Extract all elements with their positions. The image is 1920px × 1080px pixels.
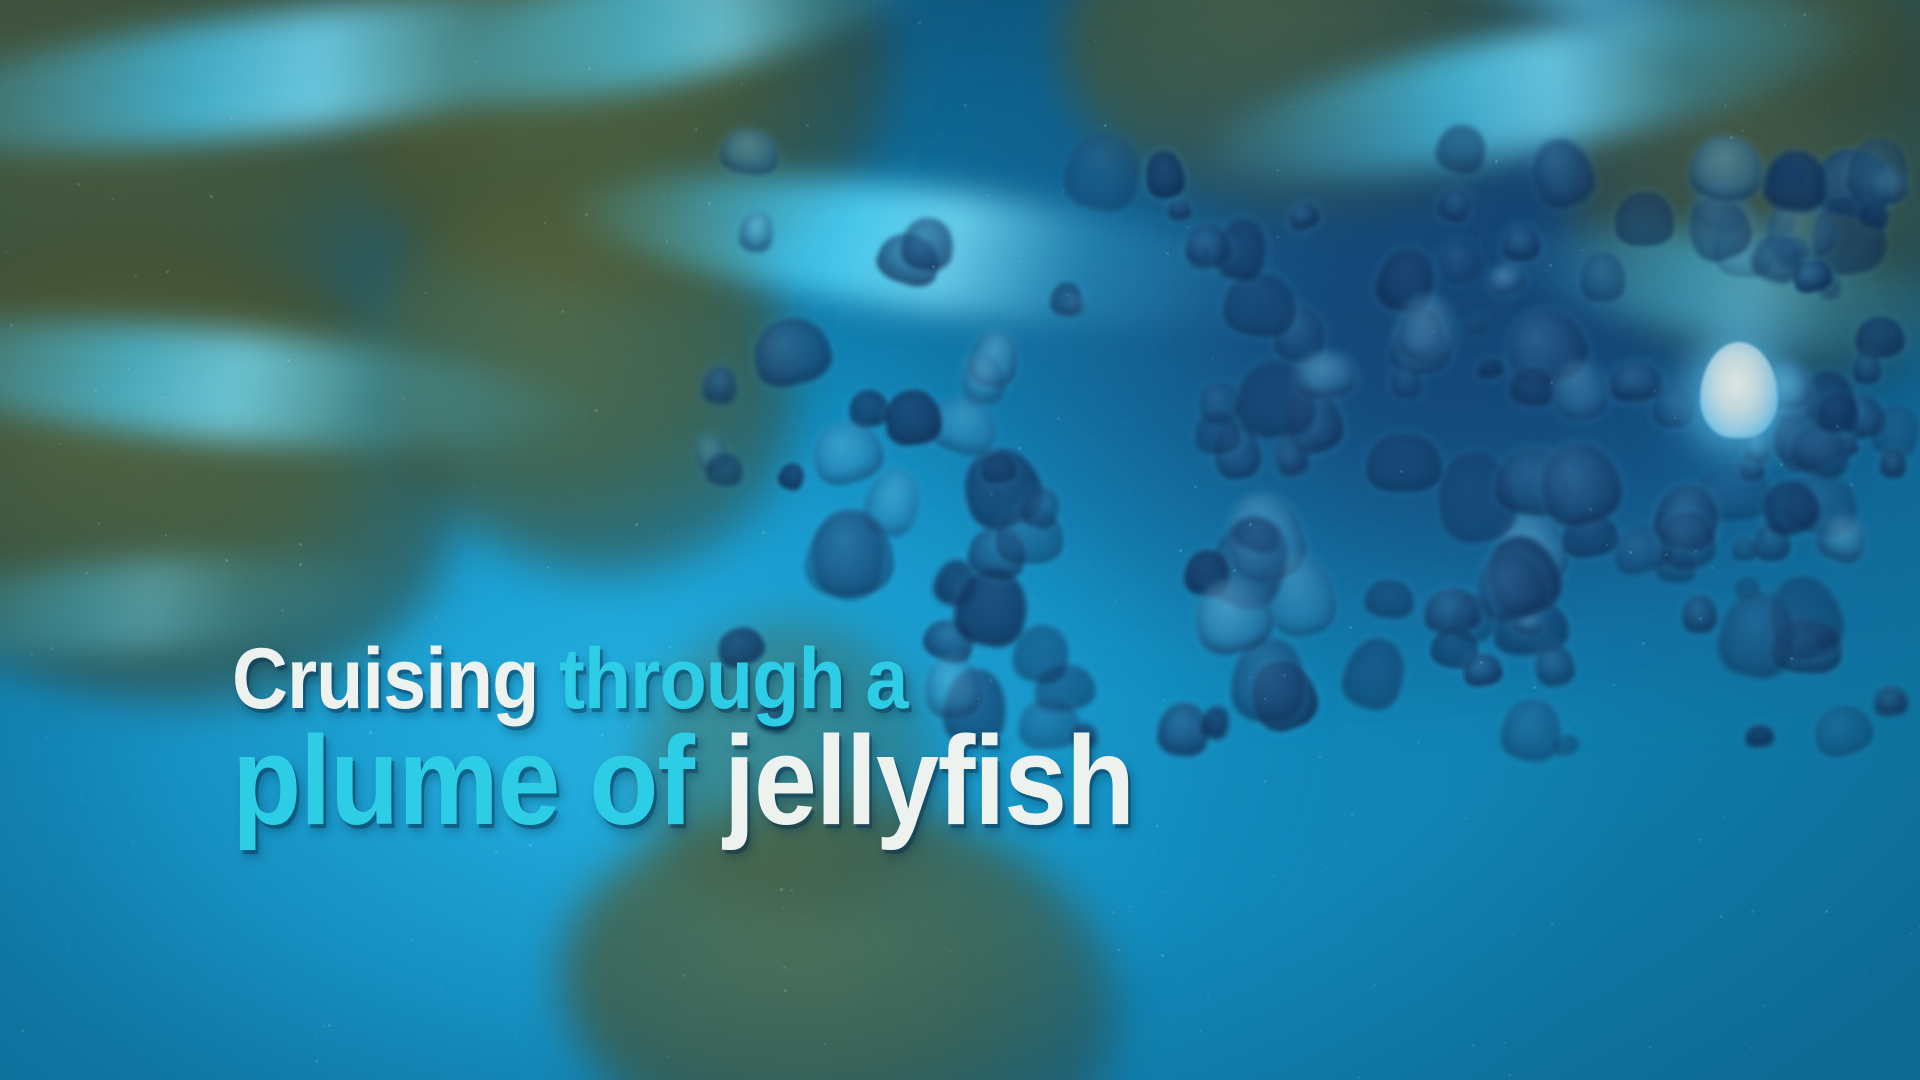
particle [153,935,156,938]
particle [1129,490,1131,492]
particle [1728,926,1730,928]
particle [410,938,413,941]
particle [1654,390,1656,392]
jellyfish-bell [1785,415,1858,484]
particle [409,26,411,28]
particle [166,270,169,273]
jellyfish-bell [1434,234,1486,288]
particle [250,10,252,12]
jellyfish-bell [1275,380,1349,460]
particle [784,989,787,992]
jellyfish-bell [1816,272,1844,302]
particle [595,409,598,412]
water-upper-shadow [0,0,1920,400]
jellyfish-bell [798,503,894,606]
jellyfish-bell [1292,350,1358,401]
jellyfish-bell [1732,538,1758,561]
particle [1581,249,1583,251]
particle [1780,463,1783,466]
jellyfish-bell [958,351,1007,408]
particle [918,21,921,24]
jellyfish-bell [1391,363,1422,400]
jellyfish-bell [1237,361,1316,437]
jellyfish-bell [746,311,837,393]
particle [1633,5,1636,8]
particle [1118,949,1120,951]
vignette-overlay [0,0,1920,1080]
particle [1674,417,1676,419]
particle [1200,1030,1202,1032]
jellyfish-bell [1711,203,1779,279]
particle [474,60,477,63]
particle [1166,252,1169,255]
jellyfish-bell [1657,509,1719,573]
particle [1018,447,1021,450]
particle [1371,987,1373,989]
particle [1551,923,1553,925]
particle [21,1029,24,1032]
particle [50,647,53,650]
particle [667,531,669,533]
particle [1916,145,1917,146]
jellyfish-bell [1679,187,1758,268]
jellyfish-bell [1532,435,1629,533]
particle [666,1055,669,1058]
particle [827,436,828,437]
caption-overlay: Cruising through a plume of jellyfish [232,640,1712,839]
particle [1223,100,1225,102]
particle [45,736,48,739]
particle [281,609,284,612]
particle [990,493,993,496]
video-frame: Cruising through a plume of jellyfish [0,0,1920,1080]
particle [112,198,114,200]
jellyfish-bell [1193,410,1241,455]
jellyfish-bell [979,452,1017,486]
particle [6,710,7,711]
particle [1154,118,1155,119]
particle [708,202,711,205]
jellyfish-bell [882,387,944,448]
particle [695,128,698,131]
particle [1273,874,1276,877]
particle [1131,508,1132,509]
particle [964,104,967,107]
particle [299,543,302,546]
rim-light-6 [1495,203,1920,377]
particle [731,908,732,909]
particle [1293,276,1294,277]
jellyfish-bell [857,463,928,542]
particle [588,67,591,70]
particle [1750,1047,1752,1049]
particle [1724,523,1726,525]
jellyfish-bell [1806,192,1891,281]
jellyfish-bell [899,215,955,272]
jellyfish-bell [1830,433,1861,460]
jellyfish-bell [1365,433,1441,492]
particle [865,294,866,295]
jellyfish-bell [923,389,1005,462]
particle [1357,1076,1360,1079]
particle [531,883,532,884]
jellyfish-bell [1016,482,1063,532]
jellyfish-bell [1508,366,1556,407]
particle [1558,229,1559,230]
particle [1433,331,1435,333]
particle [134,275,137,278]
kelp-shape-1 [0,0,526,452]
jellyfish-bell [1760,568,1852,667]
particle [1720,915,1723,918]
particle [1448,553,1449,554]
jellyfish-bell [1808,698,1878,762]
particle [126,60,128,62]
jellyfish-bell [1184,238,1213,262]
particle [1910,932,1913,935]
jellyfish-bell [1687,133,1765,203]
jellyfish-bell [1652,383,1695,427]
particle [128,368,130,370]
particle [97,522,100,525]
jellyfish-bell [1395,293,1457,364]
particle [30,653,33,656]
particle [81,799,83,801]
particle [1854,51,1857,54]
jellyfish-bell [704,451,745,488]
jellyfish-bell [1579,251,1624,301]
particle [86,572,88,574]
glowing-jellyfish-bell [1700,342,1778,438]
particle [160,888,162,890]
marine-snow-particles [0,0,1920,1080]
particle [1249,523,1252,526]
particle [741,83,743,85]
jellyfish-bell [1844,135,1911,208]
particle [210,195,213,198]
particle [59,443,61,445]
particle [1238,357,1239,358]
jellyfish-bell [1464,313,1490,337]
jellyfish-bell [1755,473,1825,541]
jellyfish-bell [690,430,733,476]
particle [954,947,956,949]
particle [782,907,785,910]
particle [1730,136,1733,139]
particle [440,989,442,991]
jellyfish-bell [1525,132,1601,214]
kelp-shape-4 [336,133,834,608]
particle [579,890,581,892]
particle [547,566,549,568]
particle [1187,226,1189,228]
jellyfish-bell [701,364,739,405]
particle [435,616,438,619]
jellyfish-bell [1768,373,1815,427]
particle [1850,483,1853,486]
particle [230,117,233,120]
particle [165,534,167,536]
jellyfish-bell [1693,462,1772,522]
particle [682,974,685,977]
particle [1699,617,1702,620]
jellyfish-bell [996,506,1064,564]
particle [395,72,398,75]
jellyfish-bell [1469,546,1552,628]
particle [1695,921,1697,923]
particle [1179,549,1182,552]
jellyfish-bell [953,438,1051,537]
particle [1378,861,1379,862]
jellyfish-bell [1060,294,1087,317]
jellyfish-bell [1687,176,1753,236]
jellyfish-bell [1765,200,1838,260]
particle [594,4,596,6]
particle [1164,891,1167,894]
jellyfish-bell [1809,145,1896,222]
kelp-shape-7 [1644,0,1920,172]
particle [986,194,989,197]
particle [1349,626,1352,629]
jellyfish-bell [1168,200,1191,220]
particle [1375,1012,1376,1013]
jellyfish-bell [1210,418,1264,482]
particle [1495,160,1498,163]
particle [738,250,739,251]
particle [561,310,564,313]
particle [495,851,498,854]
caption-word-jellyfish: jellyfish [724,710,1134,851]
jellyfish-bell [1434,184,1476,227]
jellyfish-bell [1736,451,1766,482]
jellyfish-bell [1765,202,1799,238]
jellyfish-bell [1760,147,1831,215]
jellyfish-bell [1838,391,1889,441]
particle [1472,1044,1475,1047]
particle [1277,169,1279,171]
particle [1694,550,1697,553]
particle [585,213,588,216]
particle [128,1059,129,1060]
particle [1330,875,1331,876]
jellyfish-bell [1812,510,1872,568]
particle [1104,124,1107,127]
jellyfish-bell [1608,361,1663,403]
jellyfish-bell [1182,547,1233,599]
particle [1348,582,1349,583]
jellyfish-bell [1767,158,1807,191]
particle [1151,850,1153,852]
jellyfish-bell [1754,522,1792,561]
particle [1385,13,1386,14]
jellyfish-bell [1449,592,1496,644]
jellyfish-bell [1852,351,1882,384]
particle [544,222,546,224]
particle [1114,599,1117,602]
particle [299,563,302,566]
jellyfish-bell [1880,449,1906,478]
particle [555,1025,556,1026]
jellyfish-bell [1228,509,1285,558]
particle [790,889,793,892]
particle [1233,569,1236,572]
particle [1161,954,1164,957]
particle [132,841,134,843]
jellyfish-bell [1712,585,1803,683]
particle [1741,129,1744,132]
jellyfish-bell [1478,527,1570,625]
jellyfish-bell [1269,433,1313,480]
particle [1207,994,1209,996]
jellyfish-bell [1779,466,1864,542]
particle [1652,636,1653,637]
particle [1162,464,1163,465]
jellyfish-bell [1484,260,1528,300]
particle [425,292,427,294]
rim-light-7 [1316,0,1864,101]
particle [1019,260,1021,262]
particle [1724,104,1727,107]
kelp-shape-3 [280,0,939,361]
particle [514,1034,516,1036]
jellyfish-bell [1761,363,1812,410]
particle [1504,1042,1506,1044]
particle [601,547,602,548]
jellyfish-bell [1286,199,1323,233]
particle [229,426,231,428]
jellyfish-bell [1492,444,1575,519]
jellyfish-bell [1431,446,1523,548]
particle [89,443,90,444]
particle [1126,421,1128,423]
jellyfish-bell [1220,269,1300,340]
caption-line-2: plume of jellyfish [232,723,1564,839]
particle [762,531,765,534]
deep-water-right [860,0,1920,700]
jellyfish-bell [1550,357,1611,423]
particle [1836,425,1839,428]
particle [1751,910,1754,913]
jellyfish-bell [806,503,898,602]
jellyfish-bell [1743,430,1770,463]
jellyfish-bell [1143,149,1187,200]
particle [328,1024,331,1027]
particle [1606,544,1608,546]
jellyfish-bell [1772,232,1814,272]
particle [1315,136,1317,138]
jellyfish-bell [964,326,1024,391]
particle [1479,239,1481,241]
jellyfish-bell [1655,548,1696,584]
jellyfish-bell [964,521,1031,584]
particle [665,240,668,243]
rim-light-1 [0,0,744,183]
kelp-shape-5 [1042,0,1599,246]
jellyfish-bell [1389,324,1452,375]
jellyfish-bell [847,388,892,430]
particle [1665,553,1668,556]
jellyfish-bell [1770,618,1842,675]
particle [1827,109,1829,111]
particle [1094,39,1097,42]
particle [225,559,228,562]
particle [1649,1046,1651,1048]
jellyfish-bell [1211,215,1271,284]
jellyfish-bell [738,208,777,254]
particle [77,183,80,186]
particle [66,947,69,950]
particle [217,57,220,60]
particle [1549,264,1552,267]
particle [101,551,103,553]
particle [289,95,292,98]
particle [1288,106,1290,108]
jellyfish-bell [1432,119,1492,178]
particle [1509,1074,1511,1076]
particle [1790,657,1793,660]
caption-line-1: Cruising through a [232,640,1564,719]
jellyfish-bell [1866,399,1920,462]
particle [706,1051,707,1052]
particle [597,356,598,357]
particle [1722,816,1725,819]
particle [1400,470,1403,473]
particle [1112,911,1115,914]
particle [824,1043,826,1045]
particle [1825,910,1828,913]
particle [783,172,785,174]
jellyfish-bell [1790,255,1836,297]
jellyfish-bell [1049,280,1085,318]
particle [806,124,809,127]
particle [783,966,786,969]
particle [1784,24,1786,26]
particle [287,359,290,362]
water-background [0,0,1920,1080]
jellyfish-bell [1219,487,1313,589]
plume-haze [820,60,1920,680]
particle [1589,508,1592,511]
jellyfish-bell [1182,221,1233,271]
jellyfish-bell [1422,586,1483,635]
jellyfish-bell [1510,609,1545,638]
particle [1061,189,1064,192]
particle [46,261,47,262]
jellyfish-bell [1768,396,1842,473]
particle [1382,139,1383,140]
particle [1511,933,1514,936]
jellyfish-bell [929,554,983,611]
particle [1865,969,1867,971]
rim-light-2 [0,297,603,473]
particle [94,389,97,392]
jellyfish-bell [1735,577,1760,601]
particle [68,599,69,600]
particle [1550,381,1553,384]
jellyfish-bell [872,227,946,293]
jellyfish-bell [1496,299,1595,396]
particle [780,888,783,891]
jellyfish-bell [1260,549,1340,641]
particle [1212,358,1214,360]
jellyfish-bell [1615,192,1674,247]
jellyfish-bell [774,459,807,493]
particle [10,324,13,327]
jellyfish-bell [805,414,889,492]
particle [1344,841,1346,843]
particle [932,265,935,268]
particle [1194,485,1197,488]
